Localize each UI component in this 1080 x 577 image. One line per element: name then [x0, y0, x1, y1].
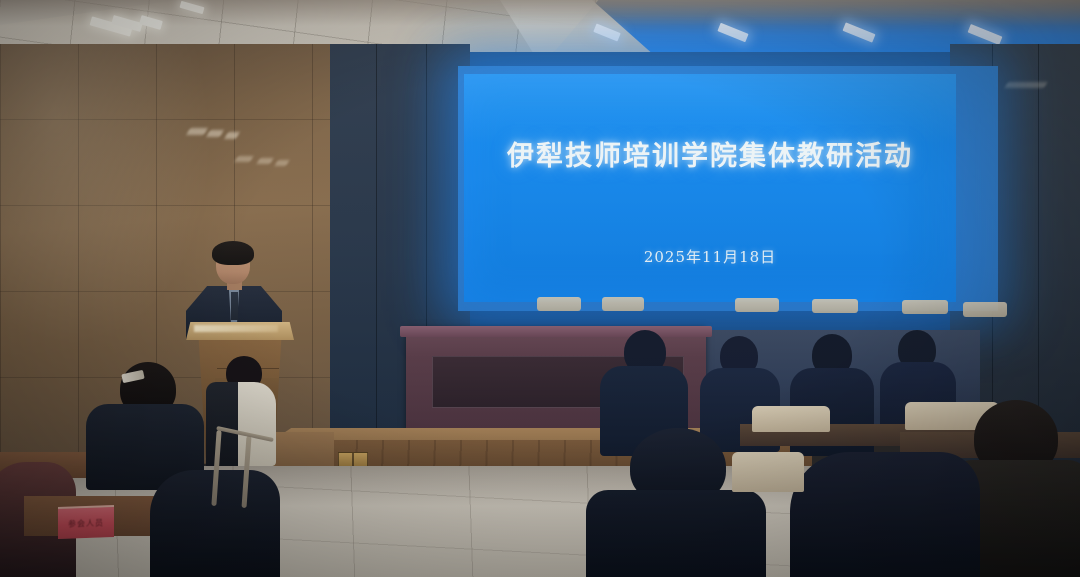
chair-headrest: [602, 297, 644, 311]
chair-back: [732, 452, 804, 492]
speaker-tie: [231, 292, 238, 320]
lamp-reflection: [1004, 82, 1047, 88]
name-card-text: 参会人员: [68, 517, 104, 529]
chair-headrest: [812, 299, 858, 313]
projection-screen: 伊犁技师培训学院集体教研活动 2025年11月18日: [464, 74, 956, 302]
audience-member: [86, 362, 204, 482]
chair-headrest: [963, 302, 1007, 317]
chair-headrest: [735, 298, 779, 312]
chair-headrest: [537, 297, 581, 311]
slide-date: 2025年11月18日: [464, 246, 956, 267]
chair-back: [0, 424, 86, 460]
lecture-hall-photo: 伊犁技师培训学院集体教研活动 2025年11月18日: [0, 0, 1080, 577]
panel-seam: [376, 44, 377, 464]
name-tent-card: 参会人员: [58, 505, 114, 539]
vest-overlay: [206, 382, 238, 466]
chair-headrest: [902, 300, 948, 314]
audience-torso: [790, 452, 980, 577]
audience-member-foreground: [790, 452, 980, 577]
slide-title: 伊犁技师培训学院集体教研活动: [464, 134, 956, 173]
podium-top-sheen: [194, 325, 278, 332]
audience-member-foreground: [586, 428, 766, 577]
audience-torso: [586, 490, 766, 577]
speaker-hair: [212, 241, 254, 265]
